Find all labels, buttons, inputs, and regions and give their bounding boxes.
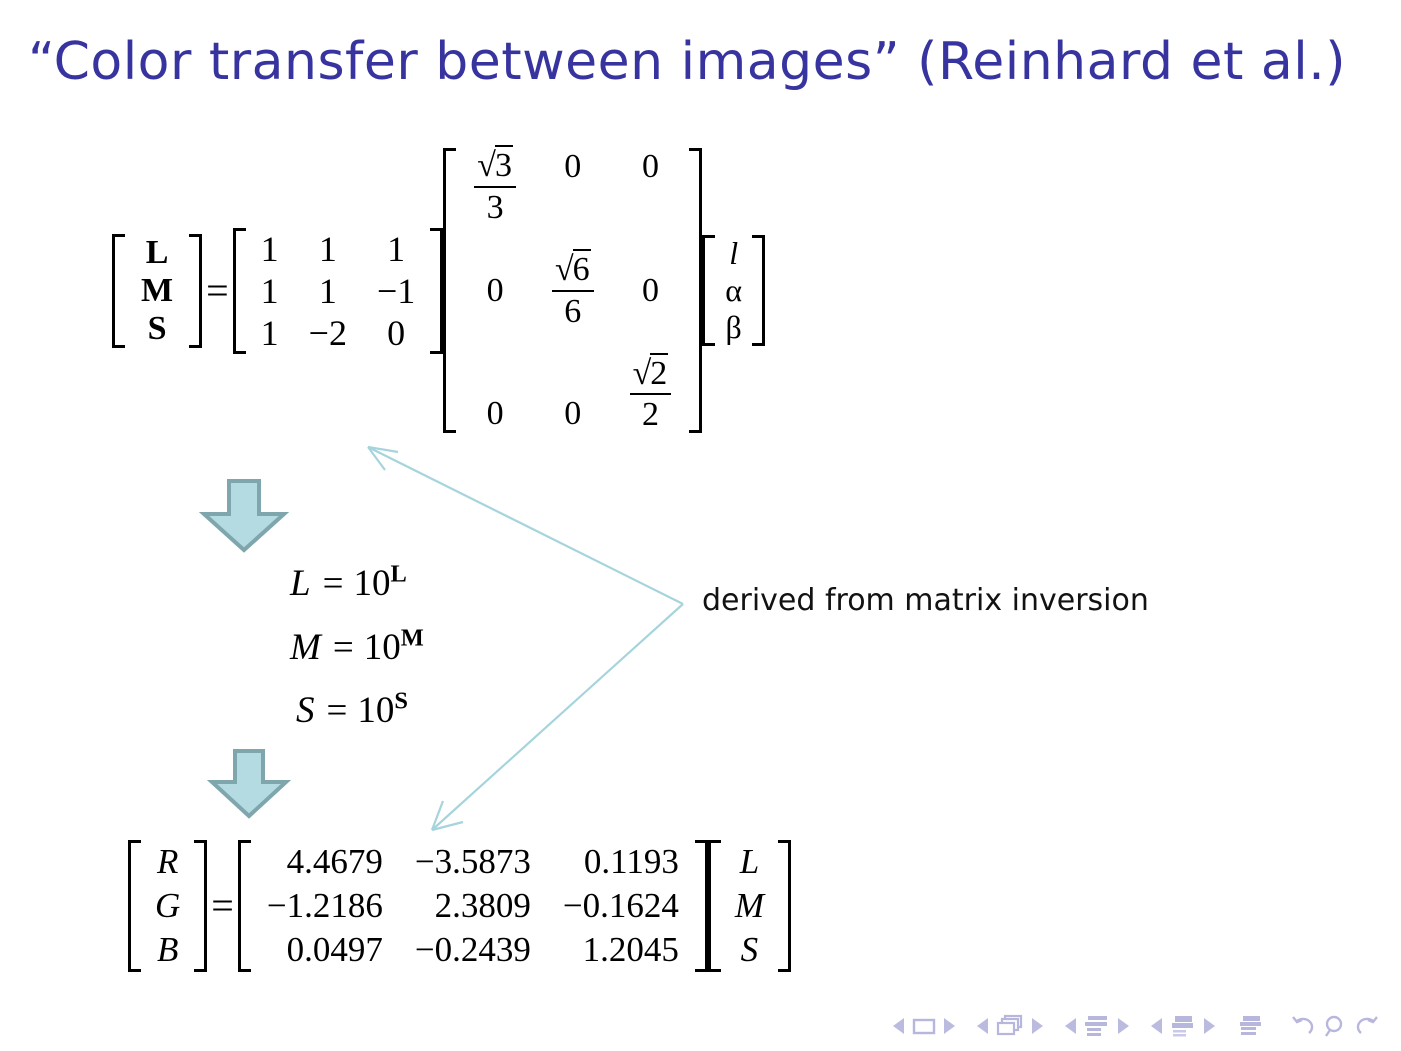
matrix-row: 1 −2 0 [246,312,431,354]
matrix-row: l [715,235,752,272]
cell-r0c2: 1 [362,228,430,270]
matrix-row: β [715,309,752,346]
matrix-row: M [125,272,189,310]
radicand: 2 [650,353,668,392]
cell-sqrt6-over-6: √6 6 [534,243,612,338]
down-block-arrow-1 [196,478,292,554]
next-slide-icon[interactable] [944,1018,955,1034]
denominator: 6 [552,292,594,330]
denominator: 2 [630,395,672,433]
vector-lms-right: L M S [708,840,791,972]
cell-r1c2: −0.1624 [547,884,695,928]
equation-exponentials: L=10L M=10M S=10S [290,552,424,743]
cell-M: M [125,272,189,310]
bracket-left [708,840,721,972]
bracket-left [443,148,456,433]
cell-r0c2: 0 [612,148,690,243]
radical-icon: √ [633,355,652,392]
bracket-right [189,234,202,348]
matrix-row: 0 √6 6 0 [456,243,689,338]
cell-r1c0: −1.2186 [251,884,399,928]
exponent-line-S: S=10S [290,679,424,743]
search-icon[interactable] [1321,1013,1349,1039]
matrix-row: α [715,272,752,309]
matrix-inverse: 4.4679 −3.5873 0.1193 −1.2186 2.3809 −0.… [238,840,708,972]
cell-r2c0: 0 [456,338,534,433]
bracket-left [702,235,715,346]
radical-icon: √ [477,147,496,184]
exponent-M: M [401,624,424,651]
next-frame-icon[interactable] [1032,1018,1043,1034]
equation-lms-transform: L M S = 1 1 1 1 1 −1 1 [112,148,765,433]
bracket-right [752,235,765,346]
radicand: 3 [495,145,513,184]
vector-lms-left: L M S [112,234,202,348]
callout-arrow-lower [432,604,683,830]
cell-r0c2: 0.1193 [547,840,695,884]
cell-r2c0: 1 [246,312,294,354]
cell-alpha: α [715,272,752,309]
equals-sign: = [323,627,364,668]
var-M: M [290,627,323,668]
cell-S: S [125,310,189,348]
radical-icon: √ [555,251,574,288]
cell-r2c2: 1.2045 [547,928,695,972]
base-10: 10 [364,627,401,668]
matrix-row: √3 3 0 0 [456,148,689,243]
equals-sign: = [317,690,358,731]
matrix-row: G [141,884,194,928]
base-10: 10 [357,690,394,731]
cell-r0c0: 1 [246,228,294,270]
cell-sqrt3-over-3: √3 3 [456,148,534,243]
equals-sign: = [313,563,354,604]
matrix-row: R [141,840,194,884]
matrix-row: L [125,234,189,272]
bracket-left [233,228,246,354]
cell-sqrt2-over-2: √2 2 [612,338,690,433]
var-S: S [296,690,317,731]
bracket-right [689,148,702,433]
matrix-row: −1.2186 2.3809 −0.1624 [251,884,695,928]
nav-group-frames[interactable] [977,1014,1043,1038]
exponent-S: S [394,688,408,715]
cell-beta: β [715,309,752,346]
cell-r1c2: −1 [362,270,430,312]
callout-arrowhead-lower [432,801,463,830]
matrix-row: L [721,840,778,884]
cell-r1c1: 1 [294,270,362,312]
slide-icon[interactable] [911,1016,937,1036]
cell-r0c1: −3.5873 [399,840,547,884]
cell-r1c1: 2.3809 [399,884,547,928]
equals-sign: = [202,271,233,311]
callout-arrowhead-upper [368,447,398,470]
matrix-ones: 1 1 1 1 1 −1 1 −2 0 [233,228,444,354]
next-section-icon[interactable] [1204,1018,1215,1034]
cell-r0c1: 1 [294,228,362,270]
var-L: L [290,563,313,604]
cell-R: R [141,840,194,884]
matrix-row: 0.0497 −0.2439 1.2045 [251,928,695,972]
prev-section-icon[interactable] [1151,1018,1162,1034]
next-subsection-icon[interactable] [1118,1018,1129,1034]
down-block-arrow-2 [204,748,294,820]
matrix-row: 0 0 √2 2 [456,338,689,433]
base-10: 10 [353,563,390,604]
matrix-row: S [721,928,778,972]
prev-slide-icon[interactable] [893,1018,904,1034]
cell-r2c1: −0.2439 [399,928,547,972]
cell-r0c1: 0 [534,148,612,243]
bracket-left [128,840,141,972]
bracket-right [695,840,708,972]
bracket-right [430,228,443,354]
radicand: 6 [573,249,591,288]
prev-subsection-icon[interactable] [1065,1018,1076,1034]
cell-B: B [141,928,194,972]
cell-l: l [715,235,752,272]
beamer-navigation-bar[interactable] [893,1013,1383,1039]
vector-rgb: R G B [128,840,207,972]
back-icon[interactable] [1287,1013,1317,1039]
bracket-left [238,840,251,972]
cell-r2c2: 0 [362,312,430,354]
cell-r2c0: 0.0497 [251,928,399,972]
bracket-right [778,840,791,972]
exponent-line-L: L=10L [290,552,424,616]
nav-group-document[interactable] [1237,1014,1265,1038]
cell-M: M [721,884,778,928]
subsection-icon[interactable] [1083,1014,1111,1038]
denominator: 3 [474,188,516,226]
matrix-diagonal-scale: √3 3 0 0 0 √6 6 0 0 0 [443,148,702,433]
matrix-row: S [125,310,189,348]
cell-L: L [125,234,189,272]
cell-r1c0: 1 [246,270,294,312]
section-icon[interactable] [1169,1014,1197,1038]
nav-group-section[interactable] [1151,1014,1215,1038]
matrix-row: B [141,928,194,972]
bracket-right [194,840,207,972]
forward-icon[interactable] [1353,1013,1383,1039]
bracket-left [112,234,125,348]
prev-frame-icon[interactable] [977,1018,988,1034]
cell-r1c2: 0 [612,243,690,338]
nav-group-history[interactable] [1287,1013,1383,1039]
matrix-row: 1 1 −1 [246,270,431,312]
matrix-row: 1 1 1 [246,228,431,270]
annotation-text: derived from matrix inversion [702,583,1149,618]
exponent-L: L [390,561,406,588]
matrix-row: M [721,884,778,928]
page-title: “Color transfer between images” (Reinhar… [28,32,1368,92]
exponent-line-M: M=10M [290,616,424,680]
cell-r1c0: 0 [456,243,534,338]
frames-icon[interactable] [995,1014,1025,1038]
cell-r2c1: −2 [294,312,362,354]
document-icon[interactable] [1237,1014,1265,1038]
nav-group-subsection[interactable] [1065,1014,1129,1038]
equals-sign: = [207,886,238,926]
matrix-row: 4.4679 −3.5873 0.1193 [251,840,695,884]
cell-r2c1: 0 [534,338,612,433]
equation-rgb-from-lms: R G B = 4.4679 −3.5873 0.1193 −1.2186 2.… [128,840,791,972]
cell-S: S [721,928,778,972]
cell-G: G [141,884,194,928]
vector-lab: l α β [702,235,765,346]
nav-group-slide[interactable] [893,1016,955,1036]
cell-L: L [721,840,778,884]
cell-r0c0: 4.4679 [251,840,399,884]
